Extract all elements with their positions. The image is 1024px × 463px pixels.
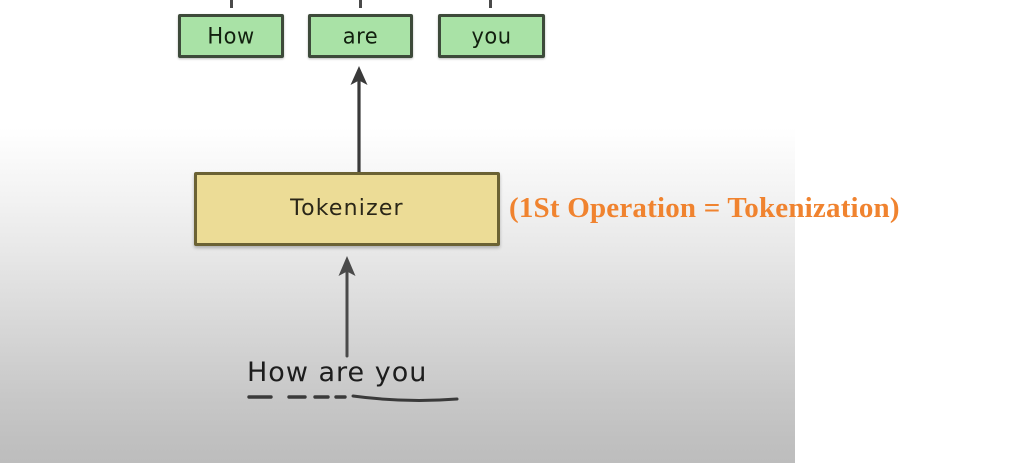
- arrow-tail-tick-you: [489, 0, 492, 8]
- arrow-tail-tick-how: [230, 0, 233, 8]
- token-box-you: you: [438, 14, 545, 58]
- tokenizer-box: Tokenizer: [194, 172, 500, 246]
- token-box-are: are: [308, 14, 413, 58]
- input-underline-marks: [245, 388, 465, 410]
- token-label-you: you: [471, 25, 511, 47]
- arrow-tail-tick-are: [359, 0, 362, 8]
- arrow-tokenizer-to-tokens: [330, 58, 390, 176]
- input-sentence-text: How are you: [247, 357, 427, 389]
- tokenizer-label: Tokenizer: [290, 198, 404, 220]
- token-label-are: are: [343, 25, 378, 47]
- diagram-canvas: How are you Tokenizer (1St Operation = T…: [0, 0, 1024, 463]
- arrow-input-to-tokenizer: [325, 248, 385, 358]
- token-box-how: How: [178, 14, 284, 58]
- annotation-text: (1St Operation = Tokenization): [509, 194, 900, 223]
- token-label-how: How: [207, 25, 254, 47]
